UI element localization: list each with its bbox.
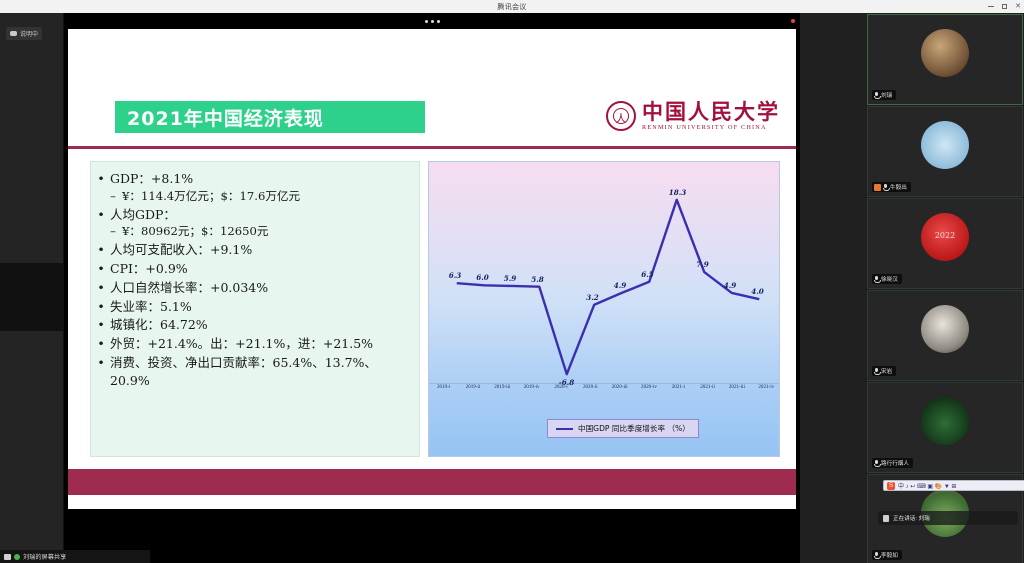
list-item: • 人均可支配收入：+9.1% [97, 241, 413, 259]
speaking-banner: 正在讲话: 刘瑞 [878, 511, 1018, 525]
microphone-icon [874, 368, 879, 375]
stage-toolbar[interactable] [64, 13, 800, 29]
list-item-text: 人均GDP： [110, 206, 413, 224]
avatar [921, 397, 969, 445]
bullet-marker: • [97, 316, 105, 334]
data-point-label: 3.2 [586, 293, 599, 302]
legend-line-swatch [556, 428, 573, 430]
data-point-label: 7.9 [696, 260, 709, 269]
network-icon [14, 554, 20, 560]
legend-label: 中国GDP 同比季度增长率 （%） [578, 423, 690, 434]
bullet-list-panel: • GDP：+8.1% – ¥：114.4万亿元；$：17.6万亿元 • 人均G… [90, 161, 420, 457]
participant-name: 路行行烟人 [881, 459, 909, 467]
page-title: 2021年中国经济表现 [115, 104, 324, 131]
bullet-marker: • [97, 170, 105, 188]
list-item: – ¥：114.4万亿元；$：17.6万亿元 [97, 189, 413, 205]
list-item-text: 外贸：+21.4%。出：+21.1%，进：+21.5% [110, 335, 413, 353]
chart-legend: 中国GDP 同比季度增长率 （%） [547, 419, 699, 438]
x-tick-label: 2021-iii [722, 384, 751, 396]
x-tick-label: 2019-ii [458, 384, 487, 396]
participant-tile[interactable]: 刘瑞 [867, 14, 1023, 105]
microphone-icon [874, 552, 879, 559]
list-item-text: 城镇化：64.72% [110, 316, 413, 334]
participant-tile[interactable]: 宋岩 [867, 290, 1023, 381]
chart-x-axis-labels: 2019-i2019-ii2019-iii2019-iv2020-i2020-i… [429, 384, 780, 396]
list-item: • 人口自然增长率：+0.034% [97, 279, 413, 297]
presentation-slide: 2021年中国经济表现 人 中国人民大学 RENMIN UNIVERSITY O… [68, 29, 796, 509]
list-item: • 人均GDP： [97, 206, 413, 224]
maximize-icon[interactable] [1002, 4, 1007, 9]
microphone-icon [874, 460, 879, 467]
bullet-marker: • [97, 206, 105, 224]
gdp-growth-line-chart: 2019-i2019-ii2019-iii2019-iv2020-i2020-i… [428, 161, 780, 457]
x-tick-label: 2019-i [429, 384, 458, 396]
x-tick-label: 2019-iii [488, 384, 517, 396]
participant-name: 牛毅出 [890, 183, 907, 191]
participant-tile[interactable]: 路行行烟人 [867, 382, 1023, 473]
data-point-label: 5.9 [504, 274, 517, 283]
list-item: • 城镇化：64.72% [97, 316, 413, 334]
left-rail: 说明中 [0, 13, 64, 563]
status-bar-label: 刘瑞的屏幕共享 [23, 552, 66, 561]
participant-nametag: 刘瑞 [872, 90, 896, 100]
x-tick-label: 2020-iv [634, 384, 663, 396]
bullet-marker: – [109, 224, 117, 240]
participant-nametag: 宋岩 [872, 366, 896, 376]
list-item-text: CPI：+0.9% [110, 260, 413, 278]
avatar [921, 121, 969, 169]
participant-name: 刘瑞 [881, 91, 892, 99]
list-item-text: ¥：114.4万亿元；$：17.6万亿元 [122, 189, 300, 205]
rail-status-label: 说明中 [20, 29, 38, 38]
participant-tile[interactable]: 2022徐晓汉 [867, 198, 1023, 289]
participant-nametag: 李毅如 [872, 550, 902, 560]
rail-filler-block [0, 263, 64, 331]
microphone-icon [883, 184, 888, 191]
participant-name: 徐晓汉 [881, 275, 898, 283]
bullet-marker: • [97, 260, 105, 278]
x-tick-label: 2021-i [664, 384, 693, 396]
meeting-app-window: 腾讯会议 ✕ 说明中 2021年中国经济表现 人 [0, 0, 1024, 563]
ime-toolbar[interactable]: S中 ♪ ↩ ⌨ ▣ 🎨 ▼ ⊞ [883, 480, 1024, 491]
sogou-logo-icon[interactable]: S [887, 482, 895, 490]
person-icon [883, 515, 889, 522]
bullet-marker: • [97, 354, 105, 390]
data-point-label: 6.5 [641, 270, 654, 279]
list-item-text: 失业率：5.1% [110, 298, 413, 316]
window-title: 腾讯会议 [497, 2, 526, 12]
list-item: • 外贸：+21.4%。出：+21.1%，进：+21.5% [97, 335, 413, 353]
list-item-text: ¥：80962元；$：12650元 [122, 224, 269, 240]
close-icon[interactable]: ✕ [1015, 0, 1021, 13]
data-point-label: -6.8 [559, 378, 575, 387]
participant-tile[interactable]: 牛毅出 [867, 106, 1023, 197]
chart-series-line [457, 200, 760, 374]
logo-english-name: RENMIN UNIVERSITY OF CHINA [642, 124, 780, 131]
list-item: – ¥：80962元；$：12650元 [97, 224, 413, 240]
data-point-label: 18.3 [669, 188, 687, 197]
list-item: • CPI：+0.9% [97, 260, 413, 278]
minimize-icon[interactable] [988, 6, 994, 7]
data-point-label: 4.9 [724, 281, 737, 290]
seal-glyph: 人 [608, 110, 634, 126]
bullet-marker: • [97, 335, 105, 353]
speaking-label: 正在讲话: 刘瑞 [893, 514, 930, 522]
bullet-marker: • [97, 279, 105, 297]
list-item-text: GDP：+8.1% [110, 170, 413, 188]
ime-tool-icons[interactable]: 中 ♪ ↩ ⌨ ▣ 🎨 ▼ ⊞ [898, 481, 956, 490]
participant-nametag: 牛毅出 [872, 182, 911, 192]
list-item-text: 人均可支配收入：+9.1% [110, 241, 413, 259]
cloud-icon [10, 31, 17, 36]
more-options-icon[interactable] [425, 20, 440, 23]
participant-name: 宋岩 [881, 367, 892, 375]
data-point-label: 6.0 [476, 273, 489, 282]
screen-share-icon [4, 554, 11, 560]
data-point-label: 4.0 [751, 287, 764, 296]
title-divider [68, 146, 796, 149]
list-item: • 消费、投资、净出口贡献率：65.4%、13.7%、20.9% [97, 354, 413, 390]
logo-chinese-name: 中国人民大学 [642, 101, 780, 123]
data-point-label: 5.8 [531, 275, 544, 284]
x-tick-label: 2020-iii [605, 384, 634, 396]
slide-title-chip: 2021年中国经济表现 [115, 101, 425, 133]
window-controls[interactable]: ✕ [988, 0, 1021, 13]
chart-plot-area [429, 162, 780, 457]
status-bar: 刘瑞的屏幕共享 [0, 550, 150, 563]
host-badge-icon [874, 184, 881, 191]
data-point-label: 6.3 [449, 271, 462, 280]
x-tick-label: 2019-iv [517, 384, 546, 396]
list-item-text: 消费、投资、净出口贡献率：65.4%、13.7%、20.9% [110, 354, 413, 390]
avatar [921, 305, 969, 353]
bullet-marker: • [97, 241, 105, 259]
participant-nametag: 徐晓汉 [872, 274, 902, 284]
bullet-marker: – [109, 189, 117, 205]
avatar [921, 29, 969, 77]
recording-indicator-icon [791, 19, 795, 23]
rail-status-pill[interactable]: 说明中 [6, 27, 42, 40]
university-logo: 人 中国人民大学 RENMIN UNIVERSITY OF CHINA [606, 101, 780, 131]
data-point-label: 4.9 [614, 281, 627, 290]
slide-bottom-band [68, 469, 796, 495]
participant-panel[interactable]: 刘瑞牛毅出2022徐晓汉宋岩路行行烟人李毅如S中 ♪ ↩ ⌨ ▣ 🎨 ▼ ⊞正在… [866, 13, 1024, 563]
x-tick-label: 2021-iv [752, 384, 780, 396]
list-item: • GDP：+8.1% [97, 170, 413, 188]
x-tick-label: 2021-ii [693, 384, 722, 396]
participant-nametag: 路行行烟人 [872, 458, 913, 468]
participant-name: 李毅如 [881, 551, 898, 559]
renmin-seal-icon: 人 [606, 101, 636, 131]
avatar: 2022 [921, 213, 969, 261]
list-item: • 失业率：5.1% [97, 298, 413, 316]
x-tick-label: 2020-ii [576, 384, 605, 396]
microphone-icon [874, 92, 879, 99]
microphone-icon [874, 276, 879, 283]
screen-share-stage: 2021年中国经济表现 人 中国人民大学 RENMIN UNIVERSITY O… [64, 13, 800, 563]
window-titlebar: 腾讯会议 ✕ [0, 0, 1024, 13]
list-item-text: 人口自然增长率：+0.034% [110, 279, 413, 297]
bullet-marker: • [97, 298, 105, 316]
participant-tile[interactable]: 李毅如S中 ♪ ↩ ⌨ ▣ 🎨 ▼ ⊞正在讲话: 刘瑞 [867, 474, 1023, 563]
